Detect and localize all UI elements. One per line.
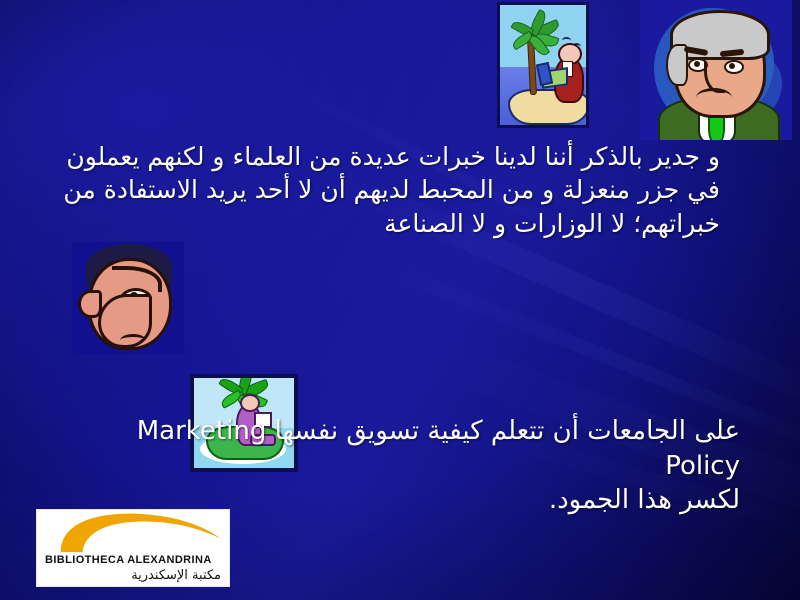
body-text-line-2: في جزر منعزلة و من المحبط لديهم أن لا أح… — [60, 173, 720, 206]
body-text-line-1: و جدير بالذكر أننا لدينا خبرات عديدة من … — [60, 140, 720, 173]
conclusion-arabic-part: على الجامعات أن تتعلم كيفية تسويق نفسها — [266, 416, 740, 446]
island-with-businessman-clipart — [497, 2, 589, 128]
logo-english-text: BIBLIOTHECA ALEXANDRINA — [45, 554, 212, 566]
person-head — [240, 394, 260, 412]
sad-long-nosed-face-cartoon — [72, 242, 184, 354]
mouth — [120, 334, 146, 347]
bibliotheca-alexandrina-logo: BIBLIOTHECA ALEXANDRINA مكتبة الإسكندرية — [36, 509, 230, 587]
conclusion-line-1: على الجامعات أن تتعلم كيفية تسويق نفسها … — [60, 414, 740, 483]
body-text: و جدير بالذكر أننا لدينا خبرات عديدة من … — [60, 140, 720, 240]
logo-arabic-text: مكتبة الإسكندرية — [131, 568, 221, 583]
body-text-line-3: خبراتهم؛ لا الوزارات و لا الصناعة — [60, 207, 720, 240]
pupil-left — [694, 61, 700, 67]
logo-swoosh-icon — [37, 510, 229, 554]
pupil-right — [729, 63, 735, 69]
mouth — [696, 88, 732, 107]
presentation-slide: و جدير بالذكر أننا لدينا خبرات عديدة من … — [0, 0, 800, 600]
sad-old-man-cartoon — [640, 0, 792, 140]
conclusion-text: على الجامعات أن تتعلم كيفية تسويق نفسها … — [60, 414, 740, 518]
